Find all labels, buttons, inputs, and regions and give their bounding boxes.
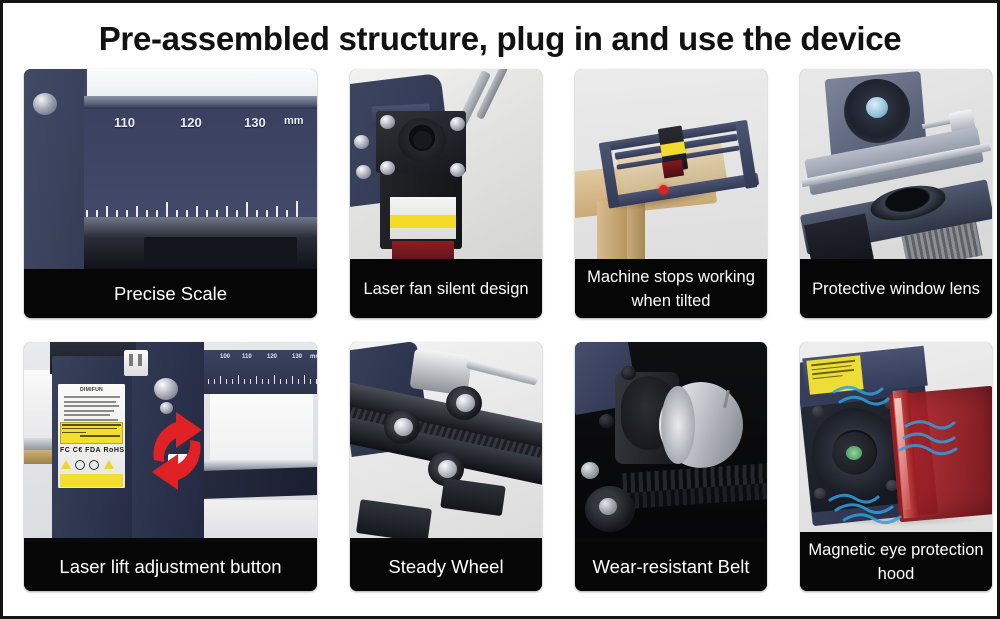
- caption-text: Machine stops working when tilted: [581, 265, 761, 313]
- label-spec-lines: [64, 396, 120, 424]
- ruler-number-120: 120: [267, 354, 277, 360]
- feature-grid: 110 120 130 mm: [24, 69, 980, 599]
- ruler-number-130: 130: [292, 354, 302, 360]
- feature-caption-tilted: Machine stops working when tilted: [575, 259, 767, 318]
- feature-card-machine-stops-when-tilted[interactable]: Machine stops working when tilted: [575, 69, 767, 318]
- scale-number-120: 120: [180, 115, 202, 130]
- feature-caption-wear-resistant-belt: Wear-resistant Belt: [575, 542, 767, 591]
- page-title: Pre-assembled structure, plug in and use…: [3, 17, 997, 61]
- scale-number-110: 110: [114, 115, 135, 130]
- ruler-unit-mm: mm: [310, 354, 317, 360]
- feature-card-precise-scale[interactable]: 110 120 130 mm: [24, 69, 317, 318]
- screw-icon: [154, 378, 178, 400]
- cable-connector: [124, 350, 148, 376]
- feature-image-wear-resistant-belt: [575, 342, 767, 538]
- label-certification-marks: FC C€ FDA RoHS: [60, 447, 124, 459]
- lens-icon: [866, 97, 888, 118]
- feature-card-steady-wheel[interactable]: Steady Wheel: [350, 342, 542, 591]
- feature-image-steady-wheel: [350, 342, 542, 538]
- feature-caption-laser-lift: Laser lift adjustment button: [24, 542, 317, 591]
- caption-text: Protective window lens: [812, 277, 980, 301]
- feature-caption-laser-fan: Laser fan silent design: [350, 259, 542, 318]
- feature-row-1: 110 120 130 mm: [24, 69, 980, 318]
- label-brand: DIMIFUN: [58, 387, 125, 393]
- caption-text: Laser fan silent design: [363, 277, 528, 301]
- ruler-ticks: [24, 199, 317, 217]
- feature-image-precise-scale: 110 120 130 mm: [24, 69, 317, 269]
- ruler-number-100: 100: [220, 354, 230, 360]
- feature-image-laser-fan: [350, 69, 542, 259]
- label-warning-lines: [62, 424, 121, 439]
- feature-image-laser-lift: 100 110 120 130 mm: [24, 342, 317, 538]
- feature-row-2: 100 110 120 130 mm: [24, 342, 980, 591]
- ruler-number-110: 110: [242, 354, 252, 360]
- feature-card-wear-resistant-belt[interactable]: Wear-resistant Belt: [575, 342, 767, 591]
- feature-grid-page: Pre-assembled structure, plug in and use…: [0, 0, 1000, 619]
- ruler-ticks: [204, 372, 317, 384]
- rotation-arrows-icon: [124, 398, 230, 502]
- feature-caption-magnetic-hood: Magnetic eye protection hood: [800, 532, 992, 591]
- feature-image-window-lens: [800, 69, 992, 259]
- feature-image-magnetic-hood: [800, 342, 992, 532]
- feature-image-tilted-machine: [575, 69, 767, 259]
- feature-card-laser-fan-silent-design[interactable]: Laser fan silent design: [350, 69, 542, 318]
- screw-icon: [33, 93, 57, 115]
- feature-caption-steady-wheel: Steady Wheel: [350, 542, 542, 591]
- label-hazard-icons: [60, 459, 124, 472]
- feature-caption-precise-scale: Precise Scale: [24, 269, 317, 318]
- airflow-icon: [800, 342, 992, 532]
- feature-caption-window-lens: Protective window lens: [800, 259, 992, 318]
- scale-unit-mm: mm: [284, 115, 304, 127]
- feature-card-protective-window-lens[interactable]: Protective window lens: [800, 69, 992, 318]
- feature-card-magnetic-eye-protection-hood[interactable]: Magnetic eye protection hood: [800, 342, 992, 591]
- caption-text: Magnetic eye protection hood: [806, 538, 986, 586]
- feature-card-laser-lift-adjustment-button[interactable]: 100 110 120 130 mm: [24, 342, 317, 591]
- scale-number-130: 130: [244, 115, 266, 130]
